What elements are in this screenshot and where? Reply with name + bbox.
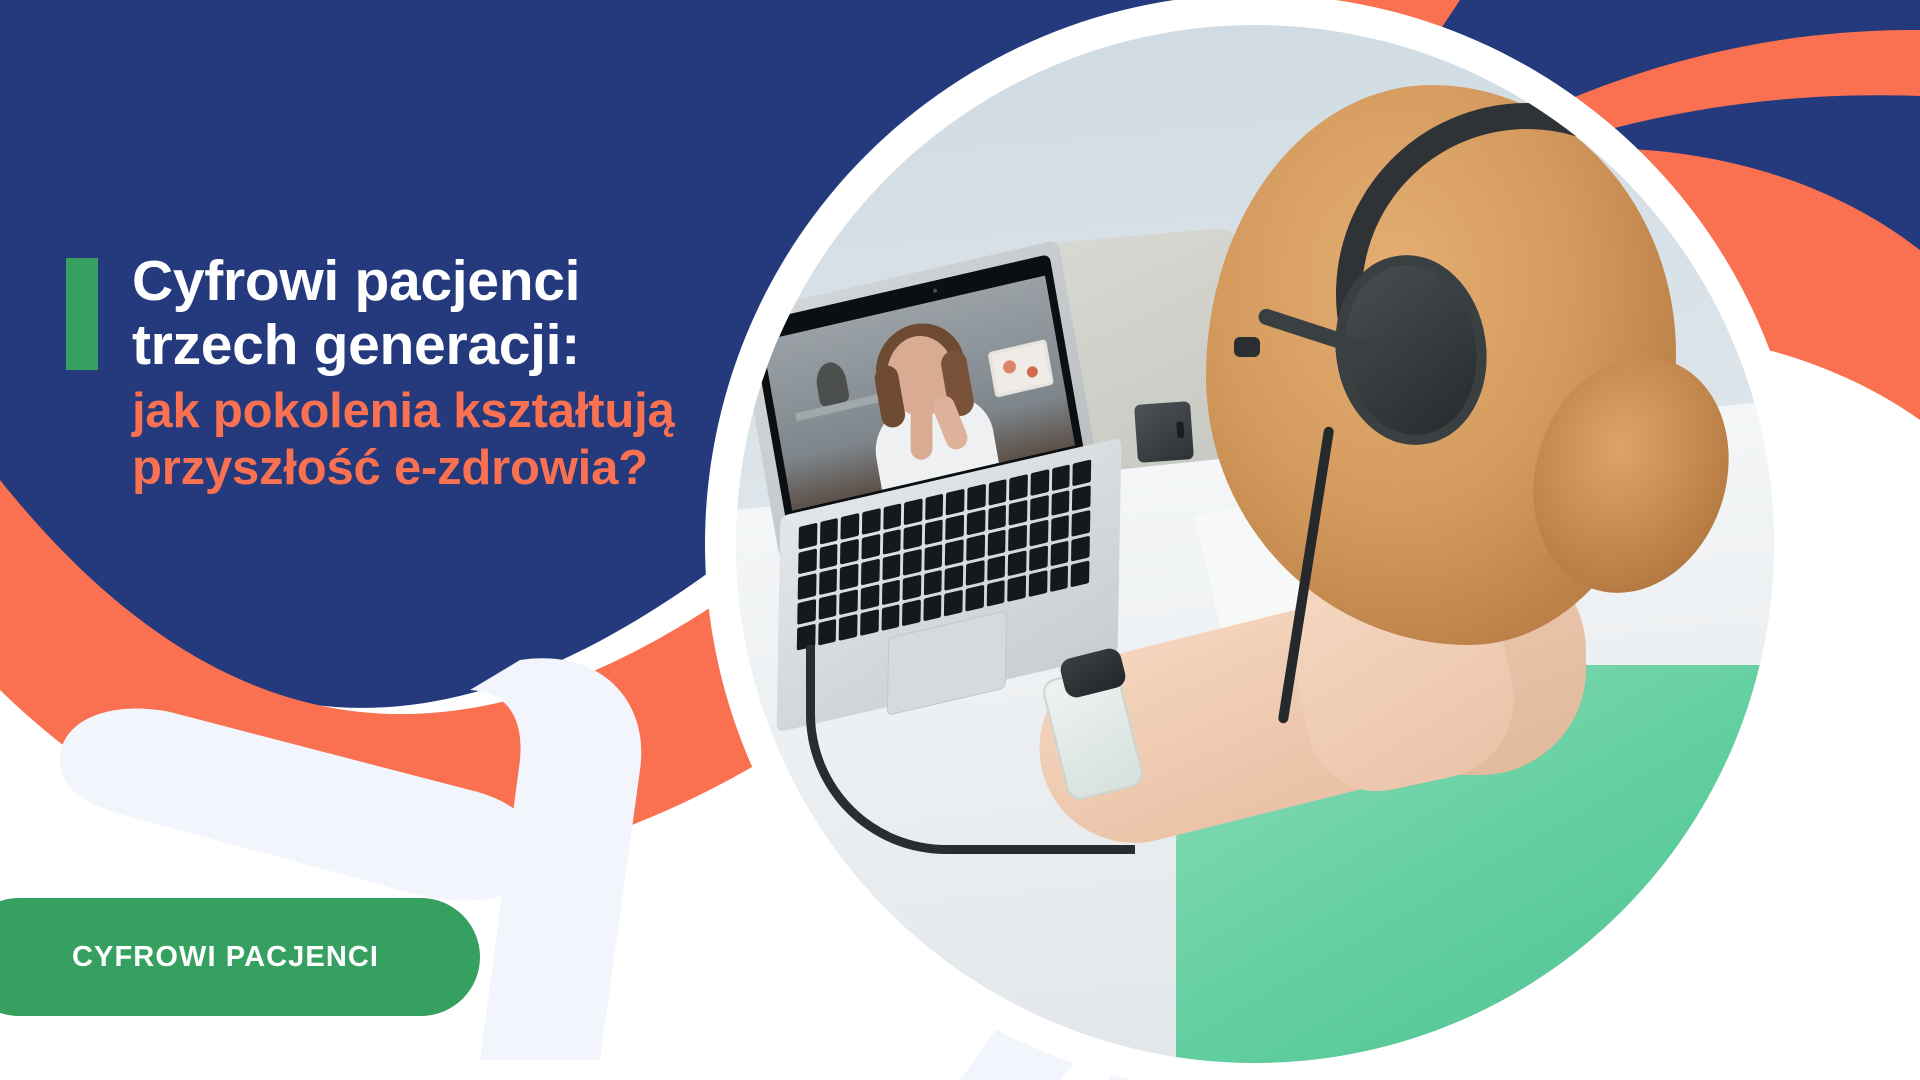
laptop-webcam-icon — [933, 288, 938, 293]
page-subtitle: jak pokolenia kształtują przyszłość e-zd… — [132, 383, 832, 498]
accent-bar — [66, 258, 98, 370]
headline-line-1: Cyfrowi pacjenci — [132, 250, 832, 314]
headset-microphone-icon — [1234, 337, 1260, 357]
hero-photo: MacBook Air — [736, 25, 1774, 1063]
page-title: Cyfrowi pacjenci trzech generacji: — [132, 250, 832, 378]
category-tag-button[interactable]: CYFROWI PACJENCI — [0, 898, 480, 1016]
power-adapter — [1134, 401, 1194, 463]
headline-line-2: trzech generacji: — [132, 314, 832, 378]
category-tag-label: CYFROWI PACJENCI — [72, 941, 379, 974]
subheadline-line-2: przyszłość e-zdrowia? — [132, 440, 832, 497]
banner-canvas: MacBook Air — [0, 0, 1920, 1080]
subheadline-line-1: jak pokolenia kształtują — [132, 383, 832, 440]
